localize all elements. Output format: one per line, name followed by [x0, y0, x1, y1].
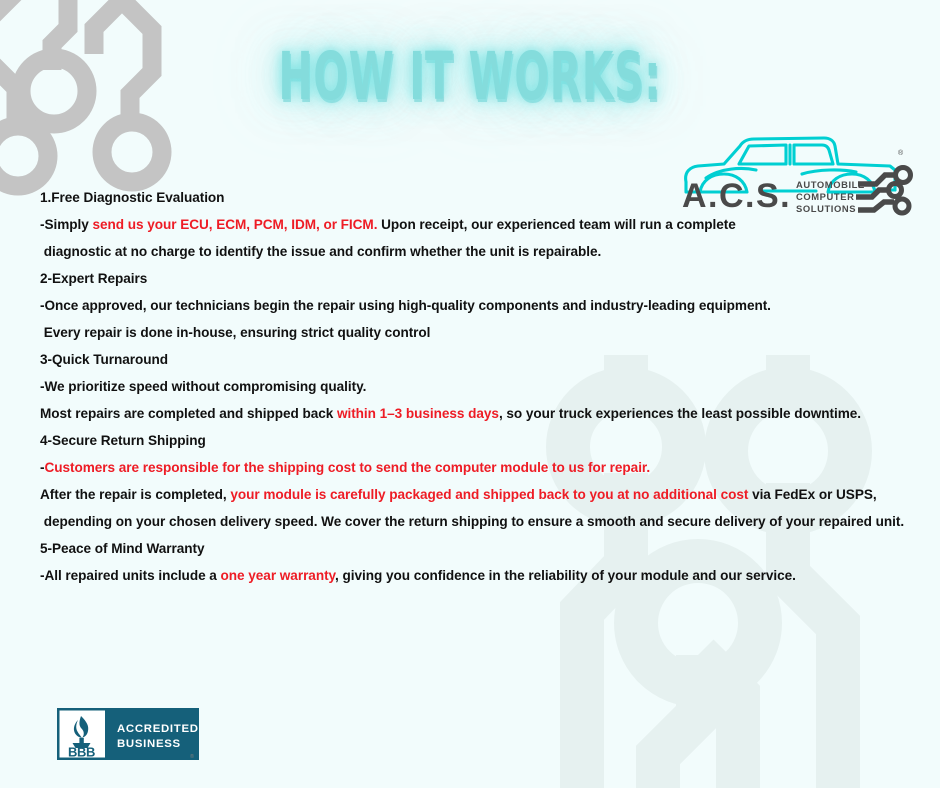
steps-content: 1.Free Diagnostic Evaluation-Simply send…: [40, 184, 920, 589]
step-body-line: depending on your chosen delivery speed.…: [40, 508, 920, 535]
svg-text:BUSINESS: BUSINESS: [117, 738, 181, 750]
page-title: HOW IT WORKS:: [279, 44, 662, 110]
svg-text:BBB: BBB: [68, 745, 95, 760]
svg-text:ACCREDITED: ACCREDITED: [117, 723, 199, 735]
bbb-accredited-business-badge[interactable]: BBB ACCREDITED BUSINESS ®: [57, 708, 199, 760]
step-heading: 4-Secure Return Shipping: [40, 427, 920, 454]
body-text: depending on your chosen delivery speed.…: [40, 514, 904, 529]
body-text: -Simply: [40, 217, 92, 232]
step-body-line: -Simply send us your ECU, ECM, PCM, IDM,…: [40, 211, 920, 238]
body-text: diagnostic at no charge to identify the …: [40, 244, 601, 259]
body-text: , so your truck experiences the least po…: [499, 406, 861, 421]
step-body-line: -Once approved, our technicians begin th…: [40, 292, 920, 319]
step-heading: 3-Quick Turnaround: [40, 346, 920, 373]
step-heading: 2-Expert Repairs: [40, 265, 920, 292]
step-body-line: -Customers are responsible for the shipp…: [40, 454, 920, 481]
step-heading: 1.Free Diagnostic Evaluation: [40, 184, 920, 211]
step-body-line: -We prioritize speed without compromisin…: [40, 373, 920, 400]
highlighted-text: within 1–3 business days: [337, 406, 499, 421]
highlighted-text: Customers are responsible for the shippi…: [44, 460, 650, 475]
body-text: -Once approved, our technicians begin th…: [40, 298, 771, 313]
step-body-line: diagnostic at no charge to identify the …: [40, 238, 920, 265]
step-body-line: -All repaired units include a one year w…: [40, 562, 920, 589]
body-text: -All repaired units include a: [40, 568, 221, 583]
body-text: Upon receipt, our experienced team will …: [377, 217, 735, 232]
highlighted-text: one year warranty: [221, 568, 336, 583]
step-body-line: Every repair is done in-house, ensuring …: [40, 319, 920, 346]
body-text: -We prioritize speed without compromisin…: [40, 379, 366, 394]
step-heading: 5-Peace of Mind Warranty: [40, 535, 920, 562]
body-text: Every repair is done in-house, ensuring …: [40, 325, 430, 340]
body-text: After the repair is completed,: [40, 487, 230, 502]
poster-page: HOW IT WORKS: ® A.C.S. AUTOMOBILE COMPUT…: [0, 0, 940, 788]
svg-text:®: ®: [190, 753, 194, 760]
body-text: Most repairs are completed and shipped b…: [40, 406, 337, 421]
step-body-line: Most repairs are completed and shipped b…: [40, 400, 920, 427]
body-text: , giving you confidence in the reliabili…: [335, 568, 796, 583]
body-text: via FedEx or USPS,: [748, 487, 876, 502]
step-body-line: After the repair is completed, your modu…: [40, 481, 920, 508]
highlighted-text: your module is carefully packaged and sh…: [230, 487, 748, 502]
svg-text:®: ®: [898, 149, 904, 157]
page-title-container: HOW IT WORKS:: [0, 44, 940, 110]
highlighted-text: send us your ECU, ECM, PCM, IDM, or FICM…: [92, 217, 377, 232]
